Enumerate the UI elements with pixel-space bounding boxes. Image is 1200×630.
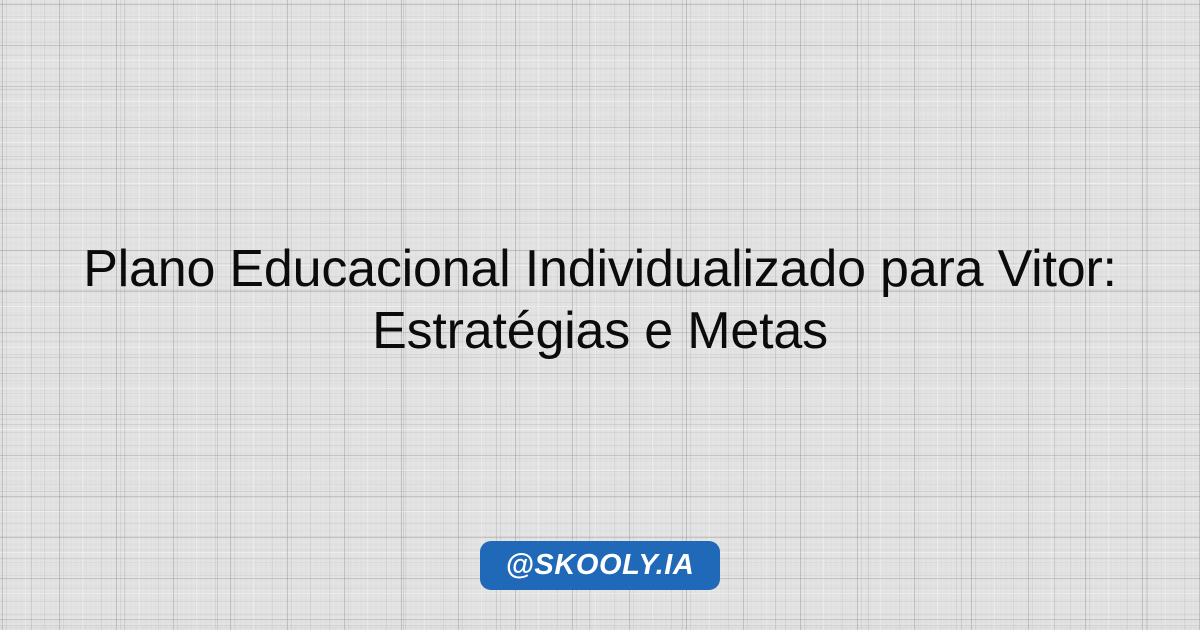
social-card: Plano Educacional Individualizado para V… [0, 0, 1200, 630]
badge-row: @SKOOLY.IA [0, 541, 1200, 590]
card-content: Plano Educacional Individualizado para V… [0, 0, 1200, 630]
title-block: Plano Educacional Individualizado para V… [0, 238, 1200, 362]
page-title: Plano Educacional Individualizado para V… [16, 238, 1184, 362]
handle-badge: @SKOOLY.IA [480, 541, 721, 590]
